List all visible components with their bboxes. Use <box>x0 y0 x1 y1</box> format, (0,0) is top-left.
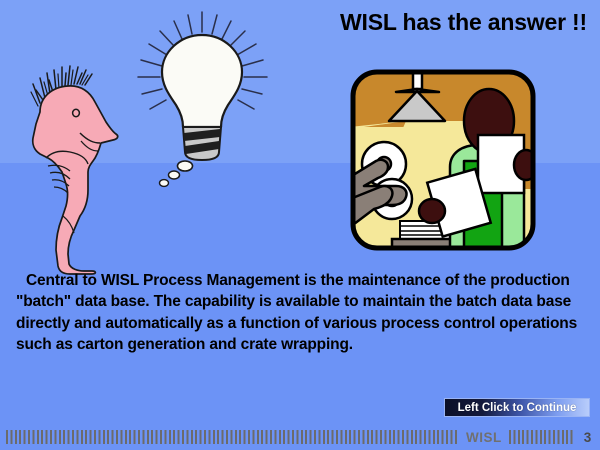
footer-bar: WISL 3 <box>0 427 600 447</box>
page-title: WISL has the answer !! <box>340 8 590 36</box>
continue-button-label: Left Click to Continue <box>458 402 577 414</box>
body-paragraph: Central to WISL Process Management is th… <box>16 270 584 356</box>
footer-brand-label: WISL <box>466 430 502 445</box>
left-click-to-continue-button[interactable]: Left Click to Continue <box>444 398 590 417</box>
footer-tick-marks-right <box>509 430 575 444</box>
clipart-panel <box>350 69 536 251</box>
footer-tick-marks-left <box>6 430 458 444</box>
footer-page-number: 3 <box>584 430 592 445</box>
cartoon-man-icon <box>18 40 138 275</box>
lightbulb-icon <box>130 10 275 190</box>
presentation-slide: WISL has the answer !! Central to WISL P… <box>0 0 600 450</box>
